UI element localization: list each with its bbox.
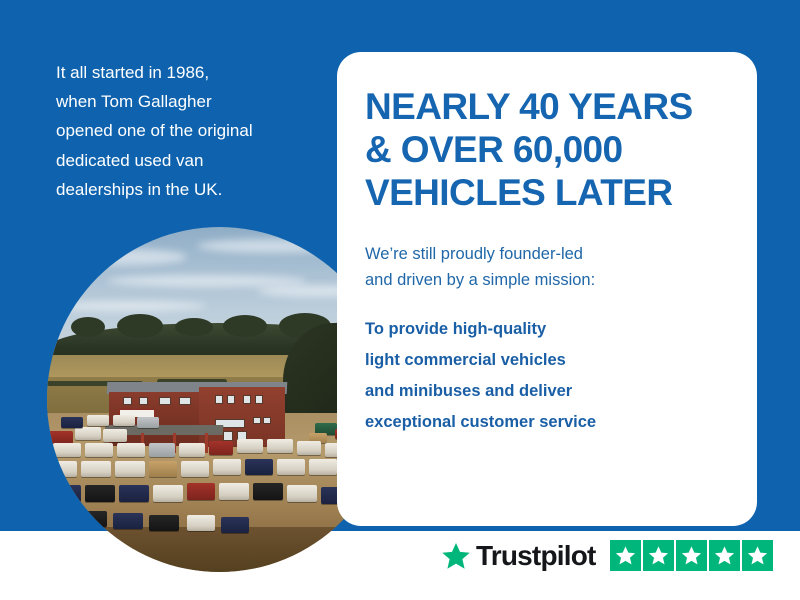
promo-banner: It all started in 1986, when Tom Gallagh…: [0, 0, 800, 600]
intro-line: dedicated used van: [56, 146, 316, 175]
photo-forecourt-shadow: [47, 527, 392, 572]
star-icon: [610, 540, 641, 571]
star-icon: [742, 540, 773, 571]
trustpilot-wordmark: Trustpilot: [476, 542, 596, 570]
headline-line: & OVER 60,000: [365, 129, 733, 172]
mission-line: To provide high-quality: [365, 314, 733, 345]
intro-paragraph: It all started in 1986, when Tom Gallagh…: [56, 58, 316, 204]
content-card: NEARLY 40 YEARS & OVER 60,000 VEHICLES L…: [337, 52, 757, 526]
trustpilot-stars: [610, 540, 773, 571]
intro-line: It all started in 1986,: [56, 58, 316, 87]
trustpilot-rating[interactable]: Trustpilot: [441, 540, 773, 571]
trustpilot-logo[interactable]: Trustpilot: [441, 541, 596, 571]
headline: NEARLY 40 YEARS & OVER 60,000 VEHICLES L…: [365, 86, 733, 215]
star-icon: [709, 540, 740, 571]
mission-statement: To provide high-quality light commercial…: [365, 314, 733, 438]
sub-intro-text: We’re still proudly founder-led and driv…: [365, 241, 733, 294]
mission-line: light commercial vehicles: [365, 345, 733, 376]
headline-line: NEARLY 40 YEARS: [365, 86, 733, 129]
mission-line: exceptional customer service: [365, 407, 733, 438]
intro-line: when Tom Gallagher: [56, 87, 316, 116]
trustpilot-star-icon: [441, 541, 471, 571]
mission-line: and minibuses and deliver: [365, 376, 733, 407]
intro-line: dealerships in the UK.: [56, 175, 316, 204]
sub-intro-line: and driven by a simple mission:: [365, 267, 733, 294]
star-icon: [643, 540, 674, 571]
sub-intro-line: We’re still proudly founder-led: [365, 241, 733, 268]
headline-line: VEHICLES LATER: [365, 172, 733, 215]
intro-line: opened one of the original: [56, 116, 316, 145]
star-icon: [676, 540, 707, 571]
